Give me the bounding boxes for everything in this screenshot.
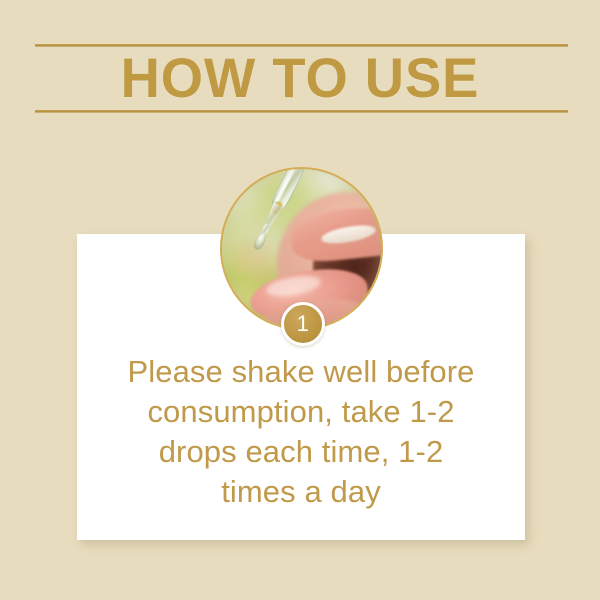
header-rule-bottom [35,110,568,113]
step-number-label: 1 [297,313,310,335]
page-title: HOW TO USE [9,48,591,108]
poster-header: HOW TO USE [0,0,600,125]
instruction-line-3: drops each time, 1-2 [77,432,525,472]
instruction-line-1: Please shake well before [77,352,525,392]
instruction-line-2: consumption, take 1-2 [77,392,525,432]
instruction-line-4: times a day [77,472,525,512]
instruction-text: Please shake well before consumption, ta… [77,352,525,512]
how-to-use-poster: HOW TO USE [0,0,600,600]
step-number-badge: 1 [281,302,325,346]
